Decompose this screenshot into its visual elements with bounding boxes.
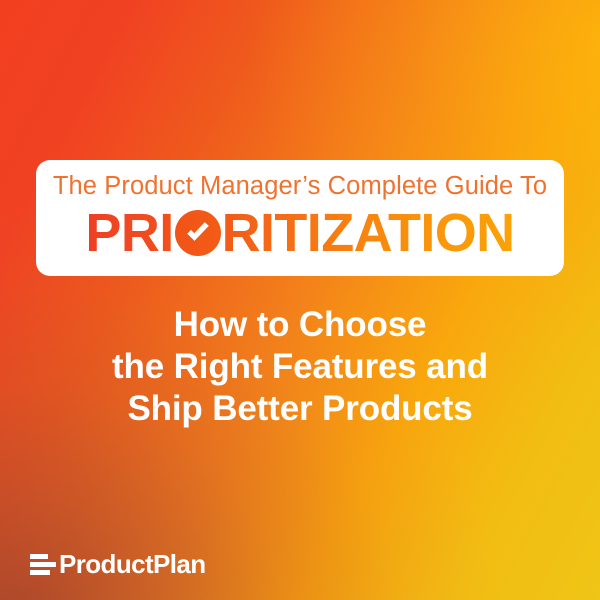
check-circle-icon [175, 210, 221, 256]
logo-bar-top [30, 554, 48, 559]
title-card: The Product Manager’s Complete Guide To … [36, 160, 564, 276]
background-warm-overlay [0, 0, 600, 600]
headline: How to Choose the Right Features and Shi… [0, 304, 600, 430]
wordmark-segment-before: PRI [85, 206, 173, 260]
headline-line-2: the Right Features and [0, 346, 600, 388]
productplan-bars-icon [30, 553, 56, 575]
logo-bar-bottom [30, 570, 50, 575]
wordmark-segment-after: RITIZATION [222, 206, 515, 260]
logo-bar-middle [30, 562, 56, 567]
eyebrow-text: The Product Manager’s Complete Guide To [53, 174, 547, 200]
headline-line-3: Ship Better Products [0, 388, 600, 430]
headline-line-1: How to Choose [0, 304, 600, 346]
brand-name: ProductPlan [59, 551, 206, 577]
productplan-logo: ProductPlan [30, 550, 206, 578]
poster-canvas: The Product Manager’s Complete Guide To … [0, 0, 600, 600]
prioritization-wordmark: PRI RITIZATION [85, 206, 514, 260]
